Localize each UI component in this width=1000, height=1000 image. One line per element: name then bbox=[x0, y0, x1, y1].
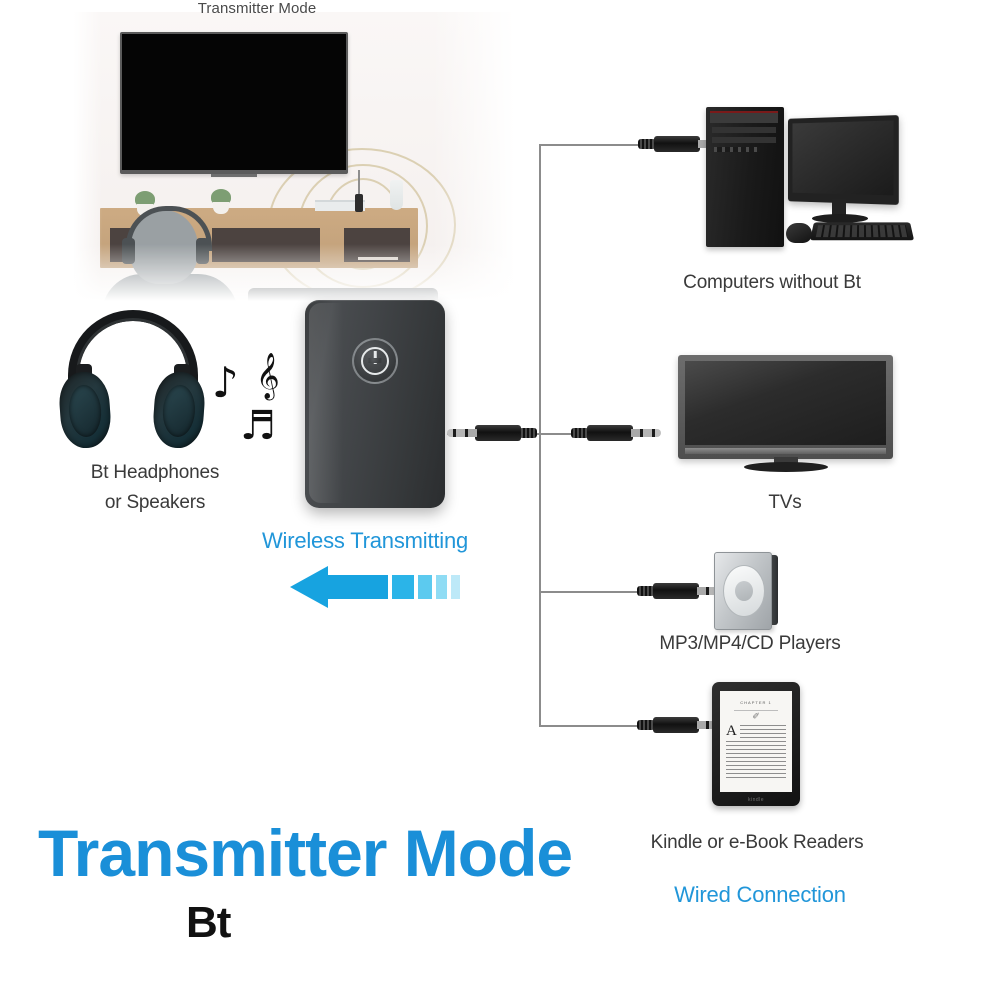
lifestyle-photo bbox=[72, 12, 522, 304]
jack-tip bbox=[631, 429, 661, 437]
tv-illustration bbox=[678, 355, 893, 473]
mp3-body bbox=[714, 552, 772, 630]
decorative-vase bbox=[390, 180, 403, 210]
tvs-label: TVs bbox=[685, 492, 885, 514]
desktop-computer-illustration bbox=[700, 95, 915, 260]
bluetooth-dongle bbox=[355, 194, 363, 212]
left-arrow-icon bbox=[290, 566, 480, 608]
mp3-label: MP3/MP4/CD Players bbox=[600, 633, 900, 655]
tv-screen bbox=[685, 361, 886, 445]
arrow-shaft bbox=[326, 575, 388, 599]
mp3-wheel-center bbox=[735, 581, 753, 601]
computer-tower bbox=[706, 107, 784, 247]
tower-top-bay bbox=[710, 111, 778, 123]
infographic-canvas: Transmitter Mode Bt Headphones or Speake… bbox=[0, 0, 1000, 1000]
computer-monitor bbox=[788, 115, 899, 205]
bluetooth-transmitter-device[interactable] bbox=[305, 300, 445, 508]
jack-barrel bbox=[587, 425, 633, 441]
cable-branch-mp3 bbox=[539, 591, 639, 593]
tv-screen bbox=[122, 34, 346, 170]
wired-connection-label: Wired Connection bbox=[600, 882, 920, 908]
jack-barrel bbox=[653, 583, 699, 599]
jack-barrel bbox=[475, 425, 521, 441]
beamed-notes-icon: ♬ bbox=[240, 406, 276, 446]
wireless-transmitting-label: Wireless Transmitting bbox=[200, 528, 530, 554]
treble-clef-icon: 𝄞 bbox=[256, 356, 280, 396]
kindle-label: Kindle or e-Book Readers bbox=[592, 832, 922, 854]
bt-headphones-illustration bbox=[58, 310, 208, 450]
tv-speaker-strip bbox=[685, 448, 886, 454]
eighth-note-icon: ♪ bbox=[212, 362, 239, 404]
photo-fade bbox=[72, 244, 522, 304]
page-subtitle: Bt bbox=[186, 898, 230, 948]
arrow-segment bbox=[392, 575, 414, 599]
jack-strain-relief bbox=[519, 428, 537, 438]
kindle-chapter-heading: CHAPTER 1 bbox=[720, 700, 792, 705]
tv-mount bbox=[211, 174, 257, 177]
page-title: Transmitter Mode bbox=[38, 815, 572, 891]
computers-label: Computers without Bt bbox=[592, 272, 952, 294]
jack-barrel bbox=[653, 717, 699, 733]
keyboard bbox=[810, 222, 914, 240]
headphones-label: Bt Headphones bbox=[30, 462, 280, 484]
monitor-screen bbox=[792, 120, 893, 195]
tower-drive-bay bbox=[712, 127, 776, 133]
tv-frame bbox=[678, 355, 893, 459]
mouse bbox=[786, 223, 812, 243]
jack-barrel bbox=[654, 136, 700, 152]
arrow-segment bbox=[451, 575, 460, 599]
kindle-body-text bbox=[726, 741, 786, 779]
device-highlight bbox=[309, 303, 343, 503]
scene-caption: Transmitter Mode bbox=[72, 0, 442, 17]
cable-branch-kindle bbox=[539, 725, 639, 727]
kindle-ornament: ✐ bbox=[720, 711, 792, 722]
tower-drive-bay bbox=[712, 137, 776, 143]
audio-jack-transmitter bbox=[447, 423, 543, 443]
power-notch bbox=[369, 358, 382, 363]
arrow-head bbox=[290, 566, 328, 608]
arrow-segment bbox=[418, 575, 432, 599]
power-button-icon[interactable] bbox=[352, 338, 398, 384]
kindle-body-text bbox=[740, 725, 786, 739]
arrow-segment bbox=[436, 575, 447, 599]
tower-ports bbox=[714, 147, 760, 152]
keyboard-keys bbox=[816, 225, 908, 237]
mp3-player-illustration bbox=[714, 552, 778, 628]
mp3-click-wheel bbox=[723, 565, 765, 617]
potted-plant bbox=[210, 188, 232, 214]
kindle-brand: kindle bbox=[712, 797, 800, 803]
tv-base bbox=[744, 462, 828, 472]
kindle-illustration: CHAPTER 1 ✐ A kindle bbox=[712, 682, 800, 806]
dongle-cable bbox=[358, 170, 360, 196]
audio-jack-mp3 bbox=[631, 581, 727, 601]
audio-jack-tv bbox=[565, 423, 661, 443]
cable-branch-computer bbox=[539, 144, 643, 146]
headphone-earpad bbox=[161, 384, 197, 438]
plant-pot bbox=[213, 202, 229, 214]
wall-mounted-tv bbox=[120, 32, 348, 174]
headphones-label-line2: or Speakers bbox=[30, 492, 280, 514]
headphone-earpad bbox=[67, 384, 103, 438]
kindle-shell: CHAPTER 1 ✐ A kindle bbox=[712, 682, 800, 806]
kindle-dropcap: A bbox=[726, 724, 737, 739]
jack-tip bbox=[447, 429, 477, 437]
kindle-screen: CHAPTER 1 ✐ A bbox=[720, 691, 792, 792]
